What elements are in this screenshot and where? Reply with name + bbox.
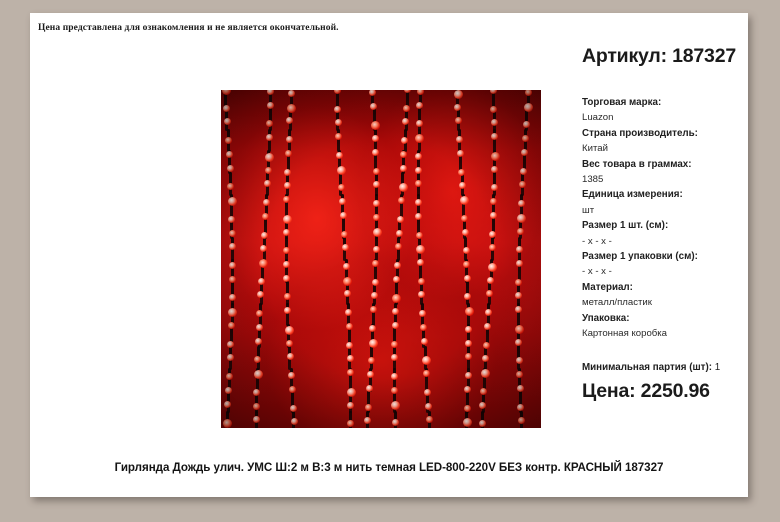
product-card-page: Цена представлена для ознакомления и не …	[30, 13, 748, 497]
spec-label: Единица измерения:	[582, 187, 742, 202]
spec-value: - x - x -	[582, 234, 742, 249]
price-row: Цена: 2250.96	[582, 380, 742, 403]
spec-value: шт	[582, 203, 742, 218]
price-value: 2250.96	[641, 380, 710, 402]
spec-label: Упаковка:	[582, 311, 742, 326]
spec-row-list: Торговая марка:LuazonСтрана производител…	[582, 95, 742, 342]
spec-value: 1385	[582, 172, 742, 187]
min-batch-value: 1	[715, 362, 720, 373]
spec-value: Luazon	[582, 110, 742, 125]
spec-value: Китай	[582, 141, 742, 156]
price-label: Цена:	[582, 380, 641, 402]
spec-label: Размер 1 шт. (см):	[582, 218, 742, 233]
product-name-caption: Гирлянда Дождь улич. УМС Ш:2 м В:3 м нит…	[30, 461, 748, 474]
product-spec-panel: Артикул: 187327 Торговая марка:LuazonСтр…	[582, 45, 742, 403]
page-title-article: Артикул: 187327	[582, 45, 742, 68]
spec-value: металл/пластик	[582, 295, 742, 310]
spec-value: Картонная коробка	[582, 326, 742, 341]
spec-value: - x - x -	[582, 264, 742, 279]
spec-label: Страна производитель:	[582, 126, 742, 141]
spec-label: Торговая марка:	[582, 95, 742, 110]
min-batch-label: Минимальная партия (шт):	[582, 362, 715, 373]
photo-vignette	[221, 90, 541, 428]
price-disclaimer-text: Цена представлена для ознакомления и не …	[38, 23, 339, 33]
min-batch-row: Минимальная партия (шт): 1	[582, 360, 742, 375]
spec-label: Вес товара в граммах:	[582, 157, 742, 172]
spec-label: Материал:	[582, 280, 742, 295]
product-image	[221, 90, 541, 428]
spec-label: Размер 1 упаковки (см):	[582, 249, 742, 264]
